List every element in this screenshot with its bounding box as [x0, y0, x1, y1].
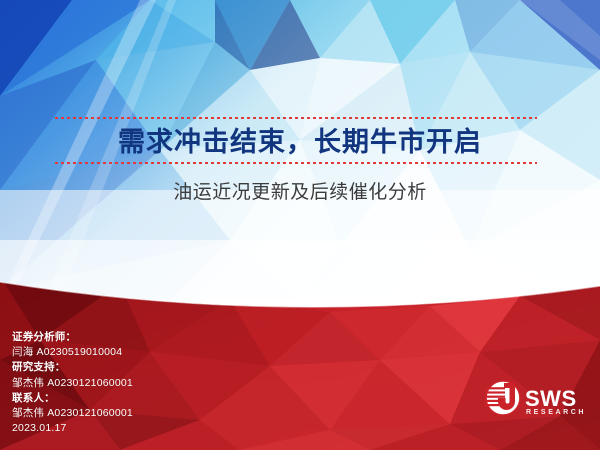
- publish-date: 2023.01.17: [12, 421, 133, 436]
- contact-label: 联系人：: [12, 391, 133, 406]
- analyst-value: 闫海 A0230519010004: [12, 345, 133, 360]
- sws-circular-mark: [485, 381, 520, 415]
- contact-value: 邹杰伟 A0230121060001: [12, 406, 133, 421]
- dotted-rule-above-title: [55, 117, 537, 119]
- sws-tagline: RESEARCH: [526, 409, 586, 416]
- dotted-rule-below-title: [55, 162, 537, 164]
- research-support-label: 研究支持：: [12, 360, 133, 375]
- page-subtitle: 油运近况更新及后续催化分析: [0, 180, 600, 206]
- research-support-value: 邹杰伟 A0230121060001: [12, 376, 133, 391]
- sws-wordmark: SWS: [525, 386, 577, 411]
- sws-logo: SWS RESEARCH: [484, 379, 588, 419]
- credits-block: 证券分析师： 闫海 A0230519010004 研究支持： 邹杰伟 A0230…: [12, 330, 133, 436]
- analyst-label: 证券分析师：: [12, 330, 133, 345]
- page-title: 需求冲击结束，长期牛市开启: [0, 126, 600, 158]
- report-cover-slide: 需求冲击结束，长期牛市开启 油运近况更新及后续催化分析 证券分析师： 闫海 A0…: [0, 0, 600, 450]
